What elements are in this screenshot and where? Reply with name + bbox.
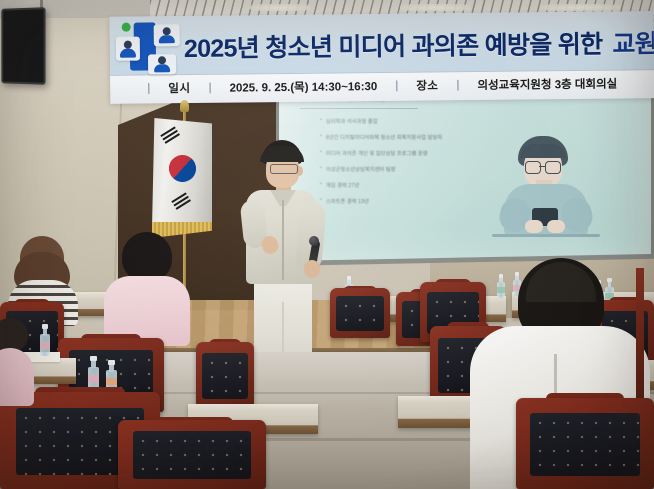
- aisle-rail: [636, 268, 644, 398]
- audience-chair: [330, 288, 390, 338]
- flag-finial: [180, 100, 189, 112]
- banner-date-label: 일시: [168, 80, 190, 96]
- slide-bullet-list: • 심리학과 석사과정 졸업 • 8년간 디지털미디어피해 청소년 회복지원사업…: [320, 118, 510, 214]
- microphone-head-icon: [309, 236, 319, 246]
- slide-bullet: • 8년간 디지털미디어피해 청소년 회복지원사업 담당자: [320, 134, 510, 141]
- slide-bullet: • 스마트폰 경력 13년: [320, 198, 510, 205]
- event-banner: 2025년 청소년 미디어 과의존 예방을 위한 교원 | 일시 | 2025.…: [110, 11, 654, 103]
- pipe-separator: |: [147, 82, 150, 94]
- lecture-hall-photo: 경력 : 모 대학교 대학원 ~ 청소년상담 • 심리학과 석사과정 졸업 • …: [0, 0, 654, 489]
- slide-bullet: • 심리학과 석사과정 졸업: [320, 118, 510, 125]
- slide-bullet: • 미디어 과의존 개인 및 집단상담 프로그램 운영: [320, 150, 510, 157]
- bullet-text: 심리학과 석사과정 졸업: [326, 118, 378, 125]
- bullet-text: 스마트폰 경력 13년: [326, 198, 369, 205]
- banner-date-value: 2025. 9. 25.(목) 14:30~16:30: [229, 78, 377, 96]
- slide-title-rule: [300, 108, 418, 109]
- bullet-marker: •: [320, 134, 322, 139]
- bullet-text: 미디어 과의존 개인 및 집단상담 프로그램 운영: [326, 150, 428, 157]
- pipe-separator: |: [209, 82, 212, 94]
- banner-title-main: 2025년 청소년 미디어 과의존 예방을 위한: [184, 25, 603, 65]
- presenter-hair-fringe: [260, 146, 304, 162]
- bullet-text: 8년간 디지털미디어피해 청소년 회복지원사업 담당자: [326, 134, 442, 141]
- slide-illustration-man-with-smartphone: [492, 136, 600, 248]
- slide-bullet: • 의성군청소년상담복지센터 팀장: [320, 166, 510, 173]
- attendee-far-left: [0, 318, 34, 402]
- slide-bullet: • 게임 경력 27년: [320, 182, 510, 189]
- banner-place-value: 의성교육지원청 3층 대회의실: [477, 76, 617, 93]
- ceiling-light: [250, 4, 310, 11]
- attendee-mid-left: [104, 232, 190, 342]
- bullet-text: 게임 경력 27년: [326, 182, 359, 189]
- banner-title-highlight: 교원: [612, 24, 654, 60]
- water-bottle: [40, 326, 50, 356]
- presenter-hand-right: [304, 260, 320, 278]
- puzzle-people-logo-icon: [116, 20, 183, 75]
- presenter-glasses-icon: [270, 164, 298, 174]
- presenter-jacket-zipper: [282, 200, 284, 280]
- banner-title: 2025년 청소년 미디어 과의존 예방을 위한 교원: [184, 21, 654, 68]
- pipe-separator: |: [395, 80, 398, 92]
- flag-shading: [152, 118, 212, 228]
- bullet-text: 의성군청소년상담복지센터 팀장: [326, 166, 396, 173]
- water-bottle: [88, 358, 99, 390]
- ceiling-light: [540, 4, 620, 11]
- audience-chair: [196, 342, 254, 408]
- ceiling-light: [400, 4, 470, 11]
- audience-chair: [118, 420, 266, 489]
- audience-chair: [516, 398, 654, 489]
- ceiling-mounted-display: [1, 7, 45, 85]
- banner-place-label: 장소: [416, 77, 438, 93]
- pipe-separator: |: [456, 79, 459, 91]
- bullet-marker: •: [320, 118, 322, 123]
